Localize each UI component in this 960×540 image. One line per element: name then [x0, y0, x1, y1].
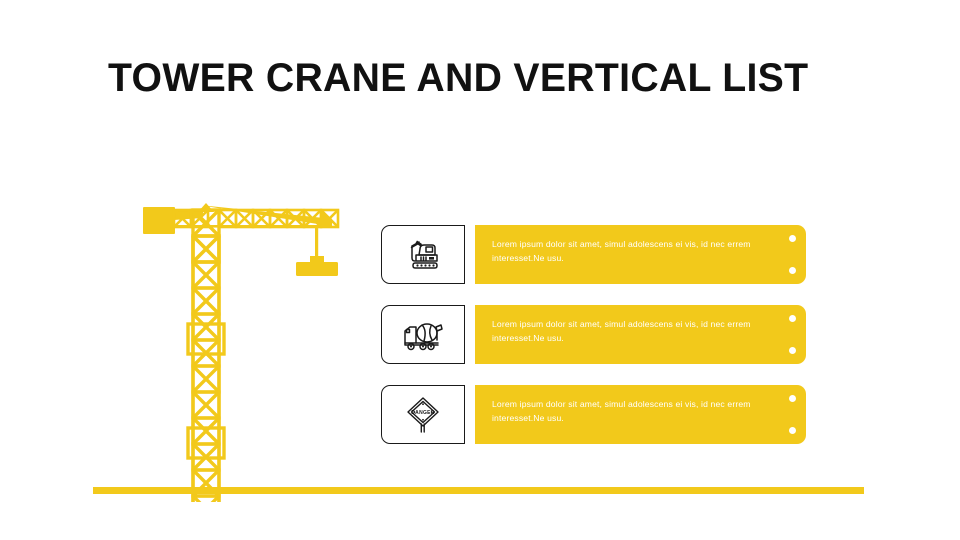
crane-hook-assembly — [296, 226, 338, 276]
list-item-text: Lorem ipsum dolor sit amet, simul adoles… — [492, 237, 770, 265]
hook-block — [296, 262, 338, 276]
page-title: TOWER CRANE AND VERTICAL LIST — [108, 54, 892, 102]
list-item-bar: Lorem ipsum dolor sit amet, simul adoles… — [475, 225, 806, 284]
cement-mixer-truck-icon — [400, 318, 446, 352]
list-item-icon-box[interactable]: DANGER — [381, 385, 465, 444]
list-item-icon-box[interactable] — [381, 225, 465, 284]
bullet-dot-bottom — [789, 267, 796, 274]
list-item-text: Lorem ipsum dolor sit amet, simul adoles… — [492, 317, 770, 345]
list-item-bar: Lorem ipsum dolor sit amet, simul adoles… — [475, 305, 806, 364]
danger-sign-icon: DANGER — [403, 395, 443, 435]
crane-apex-a-frame — [160, 203, 324, 262]
list-item[interactable]: Lorem ipsum dolor sit amet, simul adoles… — [381, 225, 806, 284]
ground-line — [93, 487, 864, 494]
bullet-dot-bottom — [789, 347, 796, 354]
list-item[interactable]: Lorem ipsum dolor sit amet, simul adoles… — [381, 305, 806, 364]
crane-counterweight — [143, 207, 175, 234]
bullet-dot-bottom — [789, 427, 796, 434]
excavator-icon — [402, 237, 444, 273]
list-item-bar: Lorem ipsum dolor sit amet, simul adoles… — [475, 385, 806, 444]
list-item-icon-box[interactable] — [381, 305, 465, 364]
bullet-dot-top — [789, 315, 796, 322]
bullet-dot-top — [789, 395, 796, 402]
list-item-text: Lorem ipsum dolor sit amet, simul adoles… — [492, 397, 770, 425]
svg-text:DANGER: DANGER — [411, 410, 435, 416]
bullet-dot-top — [789, 235, 796, 242]
list-item[interactable]: Lorem ipsum dolor sit amet, simul adoles… — [381, 385, 806, 444]
crane-mast — [188, 236, 224, 502]
vertical-list: Lorem ipsum dolor sit amet, simul adoles… — [381, 225, 806, 460]
